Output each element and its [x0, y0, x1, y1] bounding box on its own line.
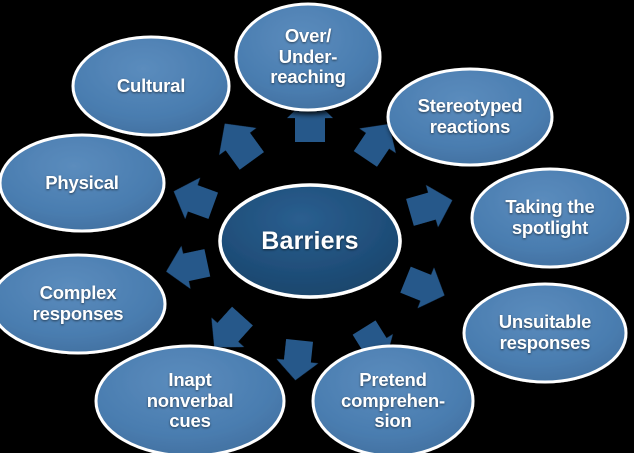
node-ellipse-inapt-nonverbal-cues[interactable] [96, 346, 284, 453]
center-ellipse-barriers[interactable] [220, 185, 400, 297]
node-ellipse-unsuitable-responses[interactable] [464, 284, 626, 382]
node-ellipse-stereotyped-reactions[interactable] [388, 69, 552, 165]
arrow-up-left2-icon [166, 171, 221, 227]
node-ellipse-pretend-comprehension[interactable] [313, 346, 473, 453]
arrow-down-right-icon [397, 259, 452, 316]
node-ellipse-taking-the-spotlight[interactable] [472, 169, 628, 267]
diagram-canvas: Over/ Under- reachingStereotyped reactio… [0, 0, 634, 453]
node-ellipse-over-under-reaching[interactable] [236, 4, 380, 110]
arrow-right-icon [404, 179, 458, 233]
node-ellipse-physical[interactable] [0, 135, 164, 231]
diagram-shapes [0, 0, 634, 453]
arrow-up-left-icon [206, 110, 270, 174]
arrow-left-icon [162, 241, 212, 293]
node-ellipse-complex-responses[interactable] [0, 255, 165, 353]
center-ellipse-group [220, 185, 400, 297]
arrow-down-icon [275, 338, 321, 382]
node-ellipse-cultural[interactable] [73, 37, 229, 135]
